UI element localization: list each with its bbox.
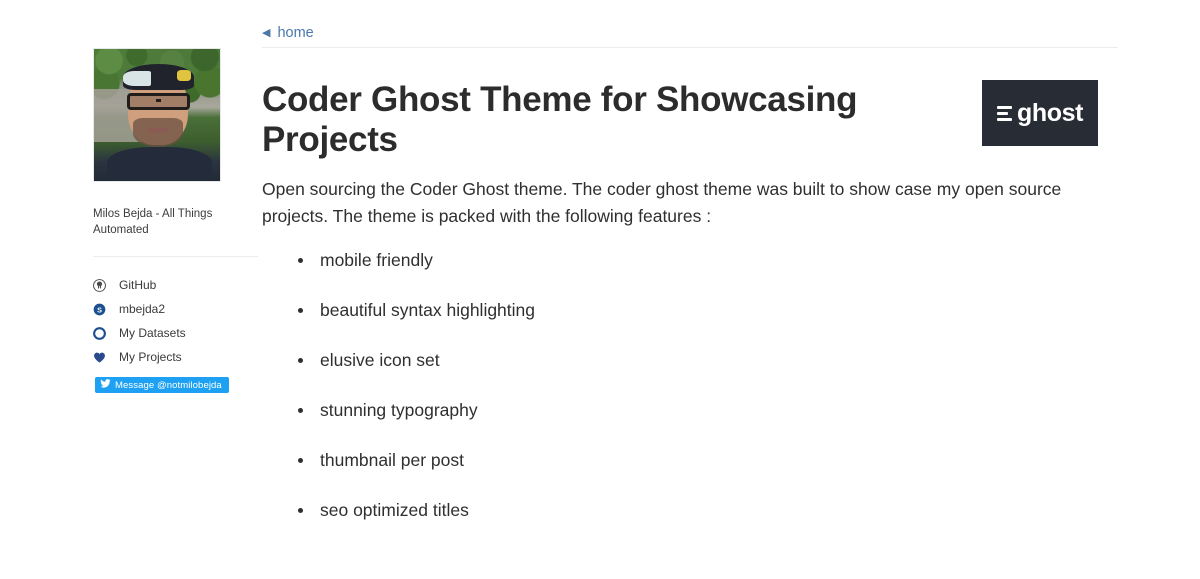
sidebar-item-projects[interactable]: My Projects [93, 345, 258, 369]
sidebar-item-datasets[interactable]: My Datasets [93, 321, 258, 345]
sidebar-item-label: mbejda2 [119, 302, 165, 316]
skype-icon: S [93, 303, 115, 316]
avatar [93, 48, 221, 182]
sidebar-item-label: GitHub [119, 278, 156, 292]
avatar-glasses [127, 93, 190, 110]
list-item: stunning typography [298, 400, 1122, 421]
ghost-logo-icon [997, 106, 1012, 121]
page-title: Coder Ghost Theme for Showcasing Project… [262, 80, 922, 160]
page-root: Milos Bejda - All Things Automated GitHu… [0, 0, 1200, 579]
list-item: seo optimized titles [298, 500, 1122, 521]
breadcrumb[interactable]: ◀ home [262, 0, 1122, 33]
sidebar-item-github[interactable]: GitHub [93, 273, 258, 297]
sidebar-item-label: My Projects [119, 350, 182, 364]
title-block: Coder Ghost Theme for Showcasing Project… [262, 80, 1118, 160]
datasets-icon [93, 327, 115, 340]
sidebar-divider [93, 256, 258, 257]
avatar-cap-tag [177, 70, 191, 81]
header-divider [262, 47, 1118, 48]
list-item: thumbnail per post [298, 450, 1122, 471]
heart-icon [93, 351, 115, 364]
list-item: beautiful syntax highlighting [298, 300, 1122, 321]
twitter-button-label: Message @notmilobejda [115, 380, 222, 391]
sidebar-links: GitHub S mbejda2 My Datasets [93, 273, 258, 369]
sidebar-item-label: My Datasets [119, 326, 186, 340]
avatar-shirt [107, 147, 213, 182]
breadcrumb-home-link[interactable]: home [277, 25, 313, 41]
back-arrow-icon: ◀ [262, 28, 270, 39]
feature-list: mobile friendly beautiful syntax highlig… [298, 250, 1122, 521]
avatar-cap-band [123, 71, 151, 86]
twitter-message-button[interactable]: Message @notmilobejda [95, 377, 229, 393]
sidebar-item-skype[interactable]: S mbejda2 [93, 297, 258, 321]
ghost-wordmark: ghost [1017, 99, 1083, 128]
github-icon [93, 279, 115, 292]
svg-text:S: S [97, 305, 102, 314]
sidebar: Milos Bejda - All Things Automated GitHu… [93, 48, 258, 394]
twitter-bird-icon [100, 378, 111, 392]
main-content: ◀ home Coder Ghost Theme for Showcasing … [262, 0, 1122, 550]
ghost-badge: ghost [982, 80, 1098, 146]
list-item: mobile friendly [298, 250, 1122, 271]
list-item: elusive icon set [298, 350, 1122, 371]
author-byline: Milos Bejda - All Things Automated [93, 207, 243, 238]
intro-paragraph: Open sourcing the Coder Ghost theme. The… [262, 176, 1077, 230]
